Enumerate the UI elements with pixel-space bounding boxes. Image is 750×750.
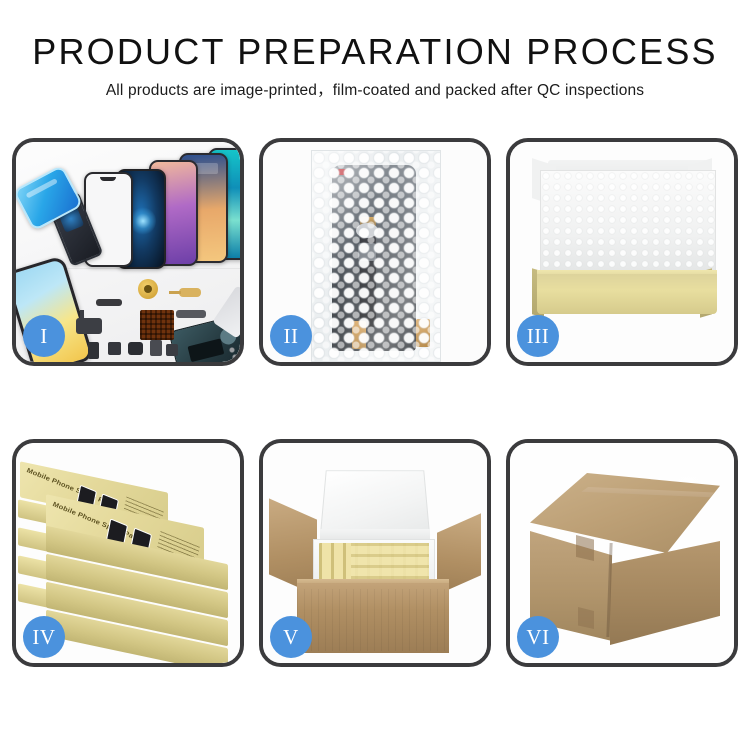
step-badge-1: I [23, 315, 65, 357]
plastic-sheen [312, 151, 440, 361]
screws-group [228, 346, 240, 360]
small-part-4 [150, 340, 162, 356]
page-title: PRODUCT PREPARATION PROCESS [0, 30, 750, 74]
flex-cable-gold [179, 288, 201, 297]
process-step-6[interactable]: VI [506, 439, 738, 667]
chip-part [96, 299, 122, 306]
gold-box-front [537, 274, 717, 314]
process-step-5[interactable]: V [259, 439, 491, 667]
screw-tray-part [140, 310, 174, 340]
process-step-4[interactable]: Mobile Phone Spare Parts Mobile Phone Sp… [12, 439, 244, 667]
bubble-wrap-bag [311, 150, 441, 362]
speaker-coil-part [138, 279, 158, 299]
step-badge-3: III [517, 315, 559, 357]
small-part-3 [128, 342, 143, 355]
step-badge-2: II [270, 315, 312, 357]
step-badge-4: IV [23, 616, 65, 658]
foam-lid [540, 170, 716, 280]
small-part-5 [166, 344, 178, 356]
small-part-1 [88, 342, 99, 359]
flex-cable-dark [76, 318, 102, 334]
process-step-3[interactable]: III [506, 138, 738, 366]
foam-texture [541, 171, 715, 279]
step-badge-6: VI [517, 616, 559, 658]
flex-cable-grey [176, 310, 206, 318]
process-step-2[interactable]: II [259, 138, 491, 366]
product-preparation-infographic: PRODUCT PREPARATION PROCESS All products… [0, 0, 750, 750]
page-subtitle: All products are image-printed，film-coat… [0, 80, 750, 102]
carton-corrugation [297, 589, 449, 651]
process-step-grid: I II [12, 138, 738, 667]
small-part-2 [108, 342, 121, 355]
step-badge-5: V [270, 616, 312, 658]
header: PRODUCT PREPARATION PROCESS All products… [0, 0, 750, 102]
foam-lid-open [320, 470, 430, 535]
process-step-1[interactable]: I [12, 138, 244, 366]
